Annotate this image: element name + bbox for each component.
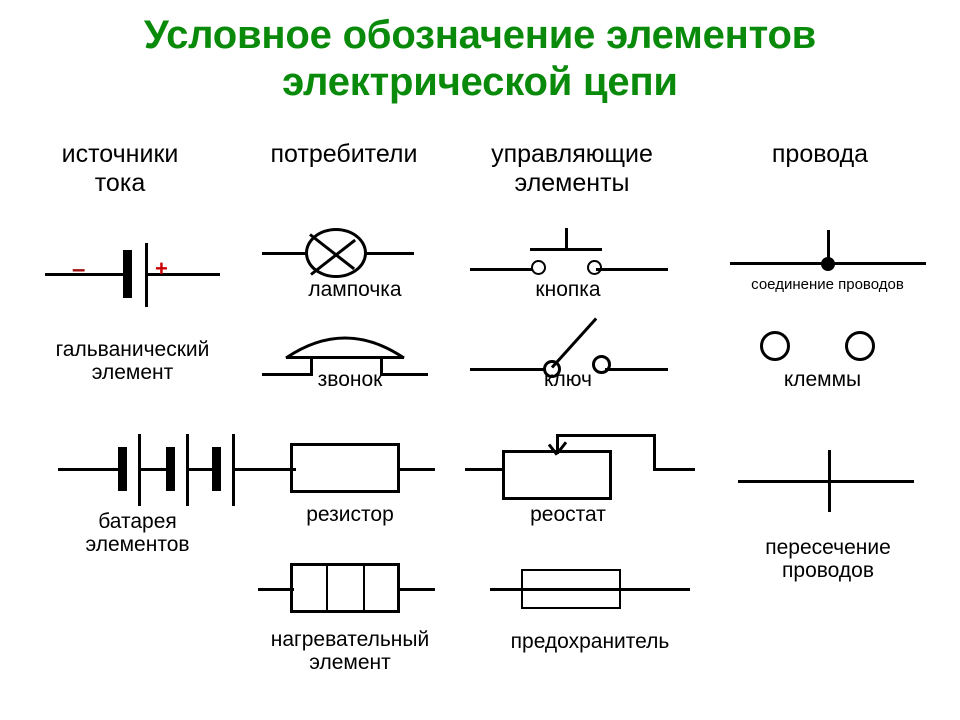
- fuse-body: [521, 569, 621, 609]
- label-heating-element-line-1: нагревательный: [245, 628, 455, 651]
- label-fuse: предохранитель: [455, 630, 725, 653]
- heating-element-divider-1: [326, 564, 328, 612]
- label-heating-element-line-2: элемент: [245, 651, 455, 674]
- label-wire-junction: соединение проводов: [700, 277, 955, 294]
- label-wire-crossing-line-2: проводов: [718, 559, 938, 582]
- label-wire-crossing: пересечение проводов: [718, 536, 938, 582]
- label-key-switch: ключ: [468, 368, 668, 391]
- heating-element-divider-2: [363, 564, 365, 612]
- terminal-contact-left: [760, 331, 790, 361]
- column-header-controls: управляющие элементы: [462, 140, 682, 198]
- column-header-sources-line-2: тока: [20, 169, 220, 198]
- label-heating-element: нагревательный элемент: [245, 628, 455, 674]
- push-button-stem: [565, 228, 568, 250]
- label-battery-line-1: батарея: [20, 510, 255, 533]
- key-switch-lever: [551, 317, 597, 368]
- battery-negative-plate-2: [166, 447, 175, 491]
- wire-crossing-horizontal: [738, 480, 914, 483]
- galvanic-cell-negative-plate: [123, 250, 132, 298]
- slide-canvas: Условное обозначение элементов электриче…: [0, 0, 960, 720]
- label-lamp: лампочка: [250, 278, 460, 301]
- resistor-body: [290, 443, 400, 493]
- push-button-lead-left: [470, 268, 540, 271]
- resistor-lead-left: [258, 468, 294, 471]
- push-button-lead-right: [596, 268, 668, 271]
- heating-element-body: [290, 563, 400, 613]
- lamp-lead-left: [262, 252, 310, 255]
- battery-negative-plate-1: [118, 447, 127, 491]
- push-button-contact-left: [531, 260, 546, 275]
- galvanic-cell-plus-sign: +: [155, 258, 168, 280]
- label-bell: звонок: [250, 368, 450, 391]
- page-title-line-2: электрической цепи: [0, 59, 960, 106]
- label-galvanic-cell-line-1: гальванический: [15, 338, 250, 361]
- rheostat-lead-left: [465, 468, 505, 471]
- rheostat-top-wire: [556, 434, 656, 437]
- bell-base: [286, 356, 404, 359]
- column-header-wires-line-1: провода: [710, 140, 930, 169]
- column-header-controls-line-1: управляющие: [462, 140, 682, 169]
- label-galvanic-cell-line-2: элемент: [15, 361, 250, 384]
- column-header-sources-line-1: источники: [20, 140, 220, 169]
- column-header-consumers: потребители: [244, 140, 444, 169]
- wire-junction-dot: [821, 257, 835, 271]
- label-battery-line-2: элементов: [20, 533, 255, 556]
- column-header-sources: источники тока: [20, 140, 220, 198]
- fuse-lead-right: [616, 588, 690, 591]
- heating-element-lead-left: [258, 588, 294, 591]
- label-resistor: резистор: [250, 503, 450, 526]
- column-header-consumers-line-1: потребители: [244, 140, 444, 169]
- heating-element-lead-right: [397, 588, 435, 591]
- column-header-wires: провода: [710, 140, 930, 169]
- label-terminals: клеммы: [715, 368, 930, 391]
- galvanic-cell-minus-sign: –: [72, 258, 85, 282]
- rheostat-lead-right: [653, 468, 695, 471]
- page-title: Условное обозначение элементов электриче…: [0, 12, 960, 106]
- label-push-button: кнопка: [468, 278, 668, 301]
- terminal-contact-right: [845, 331, 875, 361]
- wire-crossing-vertical: [828, 450, 831, 512]
- label-galvanic-cell: гальванический элемент: [15, 338, 250, 384]
- column-header-controls-line-2: элементы: [462, 169, 682, 198]
- resistor-lead-right: [397, 468, 435, 471]
- battery-negative-plate-3: [212, 447, 221, 491]
- label-wire-crossing-line-1: пересечение: [718, 536, 938, 559]
- rheostat-body: [502, 450, 612, 500]
- label-battery: батарея элементов: [20, 510, 255, 556]
- label-rheostat: реостат: [468, 503, 668, 526]
- lamp-lead-right: [364, 252, 414, 255]
- battery-link-2: [188, 468, 214, 471]
- battery-link-1: [140, 468, 168, 471]
- battery-lead-left: [58, 468, 120, 471]
- page-title-line-1: Условное обозначение элементов: [0, 12, 960, 59]
- rheostat-drop-wire: [653, 434, 656, 470]
